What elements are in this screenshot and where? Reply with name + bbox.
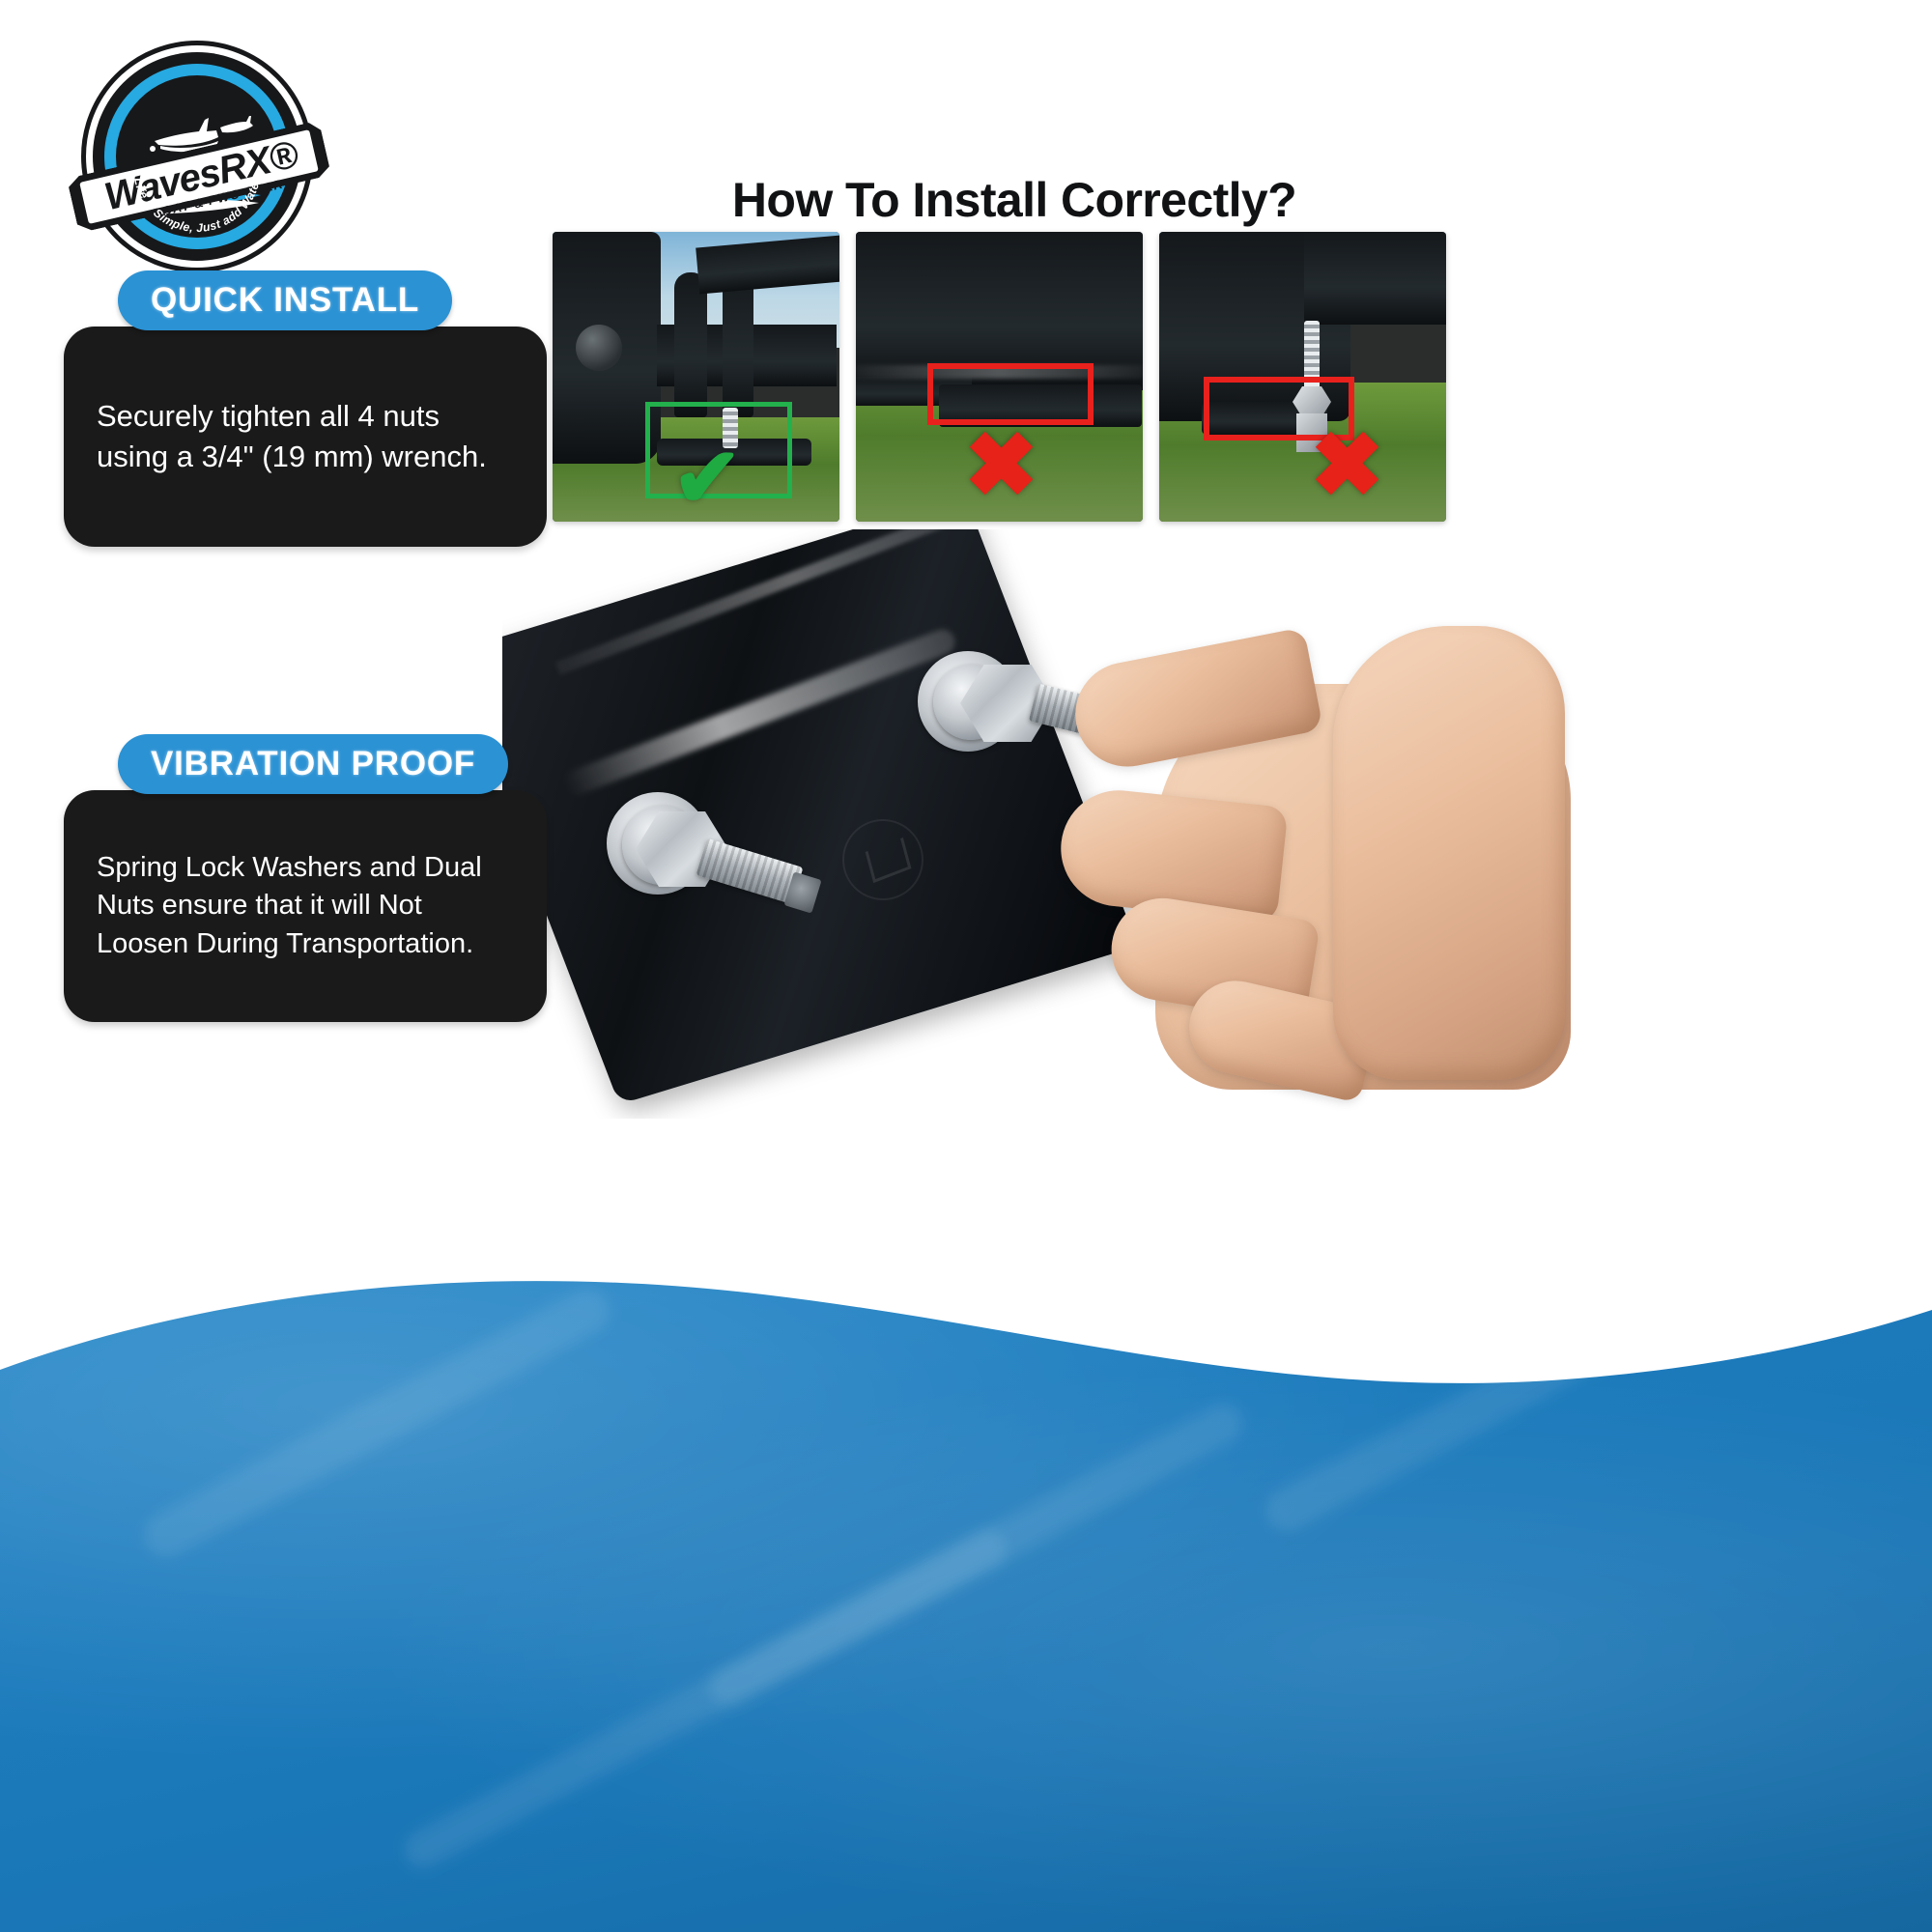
infographic-page: WavesRX® BOAT & PWC GEAR Life is Simple,… bbox=[0, 0, 1932, 1932]
feature-vibration-proof: VIBRATION PROOF Spring Lock Washers and … bbox=[64, 734, 556, 1024]
howto-title: How To Install Correctly? bbox=[676, 172, 1352, 228]
logo-tagline-text: Life is Simple, Just add Water bbox=[131, 176, 263, 235]
wave-background bbox=[0, 1256, 1932, 1932]
vibration-proof-pill: VIBRATION PROOF bbox=[118, 734, 508, 794]
product-photo-hand-with-clamp bbox=[502, 529, 1893, 1119]
howto-photo-incorrect-1: ✖ bbox=[856, 232, 1143, 522]
howto-photo-row: ✔ ✖ ✖ bbox=[553, 232, 1446, 522]
brand-logo: WavesRX® BOAT & PWC GEAR Life is Simple,… bbox=[60, 31, 332, 270]
howto-photo-incorrect-2: ✖ bbox=[1159, 232, 1446, 522]
vibration-proof-body: Spring Lock Washers and Dual Nuts ensure… bbox=[64, 849, 547, 963]
feature-quick-install: QUICK INSTALL Securely tighten all 4 nut… bbox=[64, 270, 556, 551]
x-mark-icon-1: ✖ bbox=[964, 421, 1038, 510]
knuckles bbox=[1333, 626, 1565, 1080]
hand bbox=[1043, 568, 1584, 1090]
vibration-proof-card: Spring Lock Washers and Dual Nuts ensure… bbox=[64, 790, 547, 1022]
quick-install-body: Securely tighten all 4 nuts using a 3/4"… bbox=[64, 396, 547, 476]
check-mark-icon: ✔ bbox=[672, 437, 742, 520]
vibration-proof-pill-label: VIBRATION PROOF bbox=[151, 745, 475, 783]
logo-tagline-wrap: Life is Simple, Just add Water bbox=[116, 75, 278, 238]
x-mark-icon-2: ✖ bbox=[1310, 421, 1384, 510]
bottom-wave-banner: UNIVERSAL FIT AND EASY INSTALLATION! If … bbox=[0, 1256, 1932, 1932]
quick-install-pill-label: QUICK INSTALL bbox=[151, 281, 419, 320]
quick-install-card: Securely tighten all 4 nuts using a 3/4"… bbox=[64, 327, 547, 547]
howto-photo-correct: ✔ bbox=[553, 232, 839, 522]
quick-install-pill: QUICK INSTALL bbox=[118, 270, 452, 330]
